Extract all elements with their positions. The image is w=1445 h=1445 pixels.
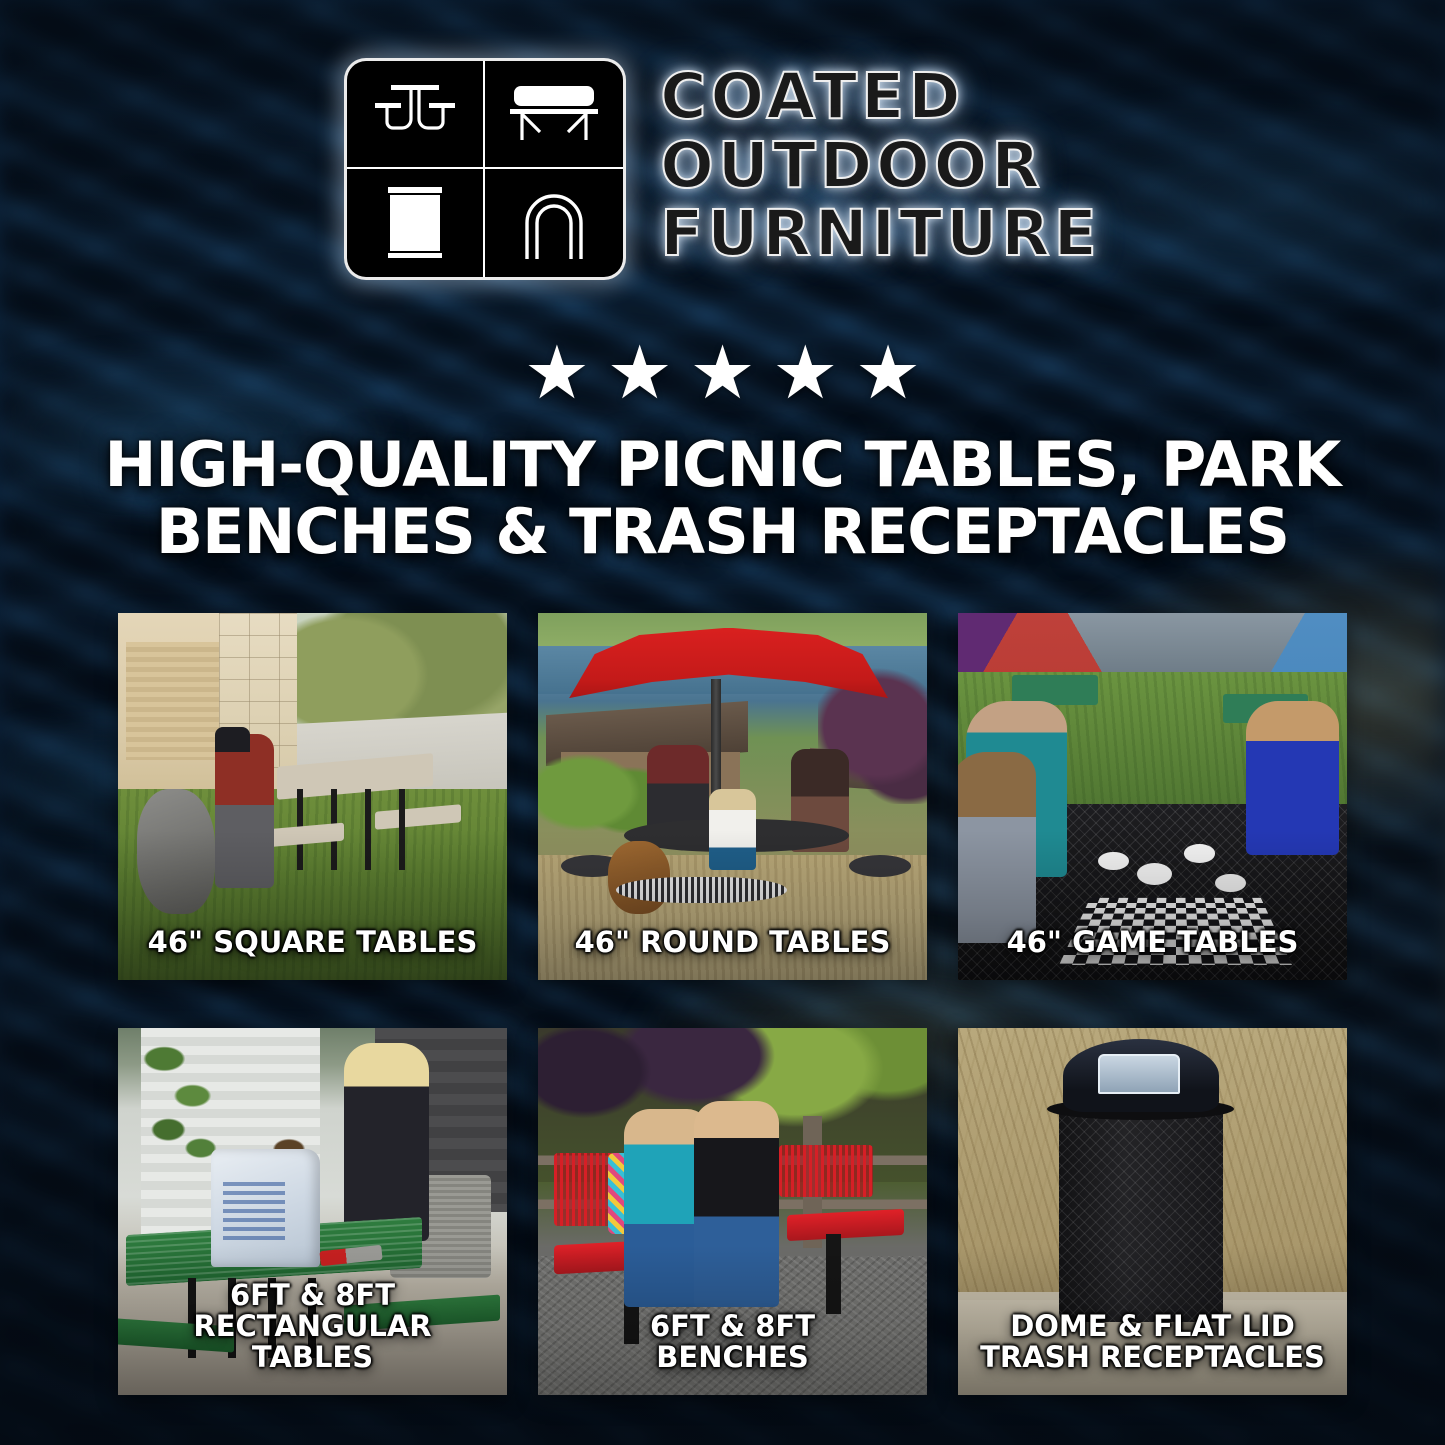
- product-grid: 46" SQUARE TABLES 46" ROUND TABLES: [118, 613, 1327, 1395]
- brand-name-line-3: FURNITURE: [660, 201, 1101, 268]
- bike-rack-icon: [485, 169, 623, 277]
- headline-line-1: HIGH-QUALITY PICNIC TABLES, PARK: [105, 428, 1341, 501]
- logo-mark: [344, 58, 626, 280]
- caption-line-2: BENCHES: [548, 1342, 917, 1373]
- product-tile-trash-receptacles[interactable]: DOME & FLAT LID TRASH RECEPTACLES: [958, 1028, 1347, 1395]
- caption-line-1: 6FT & 8FT: [650, 1309, 815, 1343]
- caption-line-2: RECTANGULAR TABLES: [128, 1311, 497, 1373]
- caption-line-1: 46" SQUARE TABLES: [148, 925, 478, 959]
- product-caption-rectangular-tables: 6FT & 8FT RECTANGULAR TABLES: [118, 1280, 507, 1395]
- caption-line-1: 46" ROUND TABLES: [575, 925, 891, 959]
- brand-name-line-2: OUTDOOR: [660, 133, 1044, 200]
- star-rating: ★ ★ ★ ★ ★: [0, 336, 1445, 410]
- star-icon-4: ★: [772, 336, 838, 410]
- star-icon-3: ★: [689, 336, 755, 410]
- product-tile-benches[interactable]: 6FT & 8FT BENCHES: [538, 1028, 927, 1395]
- headline: HIGH-QUALITY PICNIC TABLES, PARK BENCHES…: [0, 432, 1445, 566]
- product-caption-benches: 6FT & 8FT BENCHES: [538, 1311, 927, 1395]
- product-caption-square-tables: 46" SQUARE TABLES: [118, 927, 507, 980]
- product-tile-round-tables[interactable]: 46" ROUND TABLES: [538, 613, 927, 980]
- brand-name-line-1: COATED: [660, 64, 964, 131]
- bench-table-icon: [485, 61, 623, 169]
- caption-line-1: DOME & FLAT LID: [1010, 1309, 1295, 1343]
- trash-receptacle-icon: [347, 169, 485, 277]
- caption-line-1: 46" GAME TABLES: [1007, 925, 1299, 959]
- product-tile-game-tables[interactable]: 46" GAME TABLES: [958, 613, 1347, 980]
- caption-line-1: 6FT & 8FT: [230, 1278, 395, 1312]
- star-icon-5: ★: [855, 336, 921, 410]
- product-caption-round-tables: 46" ROUND TABLES: [538, 927, 927, 980]
- product-caption-trash-receptacles: DOME & FLAT LID TRASH RECEPTACLES: [958, 1311, 1347, 1395]
- poster-canvas: COATED OUTDOOR FURNITURE ★ ★ ★ ★ ★ HIGH-…: [0, 0, 1445, 1445]
- star-icon-2: ★: [607, 336, 673, 410]
- product-caption-game-tables: 46" GAME TABLES: [958, 927, 1347, 980]
- caption-line-2: TRASH RECEPTACLES: [968, 1342, 1337, 1373]
- brand-wordmark: COATED OUTDOOR FURNITURE: [660, 64, 1101, 274]
- picnic-table-icon: [347, 61, 485, 169]
- product-tile-rectangular-tables[interactable]: 6FT & 8FT RECTANGULAR TABLES: [118, 1028, 507, 1395]
- star-icon-1: ★: [524, 336, 590, 410]
- brand-logo: COATED OUTDOOR FURNITURE: [0, 58, 1445, 280]
- product-tile-square-tables[interactable]: 46" SQUARE TABLES: [118, 613, 507, 980]
- headline-line-2: BENCHES & TRASH RECEPTACLES: [70, 499, 1375, 566]
